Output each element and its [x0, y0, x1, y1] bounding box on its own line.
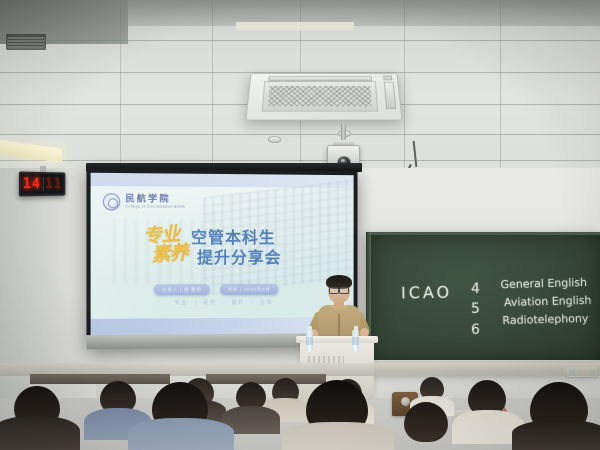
chalk-topic: Radiotelephony [502, 310, 592, 330]
chalk-level-numbers: 4 5 6 [471, 279, 480, 340]
slide-tagline-word: 素养 [203, 299, 216, 306]
logo-name-en: College of Civil Aviation NUAA [125, 206, 185, 210]
slide-badge-date: 时间 | 2023年6月 [220, 284, 279, 295]
eyeglasses-icon [329, 287, 349, 292]
desk-surface [206, 374, 326, 384]
slide-logo: 民航学院 College of Civil Aviation NUAA [103, 193, 185, 211]
chalk-topic: General English [500, 274, 591, 295]
slide-tagline: 专业 | 素养 | 提升 | 分享 [175, 299, 273, 306]
ac-filter-mesh [268, 86, 372, 106]
chalk-topic-list: General English Aviation English Radiote… [500, 274, 592, 331]
microphone-wire [413, 141, 418, 167]
audience-shoulders [282, 422, 394, 450]
chair-knob [401, 397, 410, 406]
slide-title-main-line: 提升分享会 [197, 248, 281, 268]
ceiling [0, 0, 600, 178]
ceiling-tile-line [500, 0, 501, 178]
ceiling-vent-grill [6, 34, 46, 50]
slide-badges: 分享人 | 胡 老师 时间 | 2023年6月 [154, 284, 279, 295]
clock-minutes: 11 [43, 174, 63, 194]
slide-title-main: 空管本科生 提升分享会 [191, 229, 281, 268]
chalk-label-icao: ICAO [401, 283, 452, 303]
audience [0, 354, 600, 450]
classroom-photo: 14 11 民航学院 College of Civil Aviation NUA… [0, 0, 600, 450]
slide-tagline-sep: | [223, 299, 224, 305]
slide-tagline-word: 提升 [232, 299, 245, 306]
audience-head [404, 402, 448, 442]
slide-title: 专业 素养 空管本科生 提升分享会 [144, 226, 282, 268]
audience-shoulders [512, 420, 600, 450]
slide-title-accent: 专业 素养 [142, 224, 188, 266]
water-bottle [352, 330, 359, 352]
chalk-topic: Aviation English [504, 292, 592, 312]
ac-intake-frame [262, 81, 379, 112]
slide-tagline-word: 分享 [260, 299, 273, 306]
ac-vent-slot [384, 82, 397, 109]
slide-tagline-sep: | [252, 299, 253, 305]
audience-shoulders [128, 418, 234, 450]
university-crest-icon [103, 193, 120, 210]
clock-hours: 14 [21, 174, 43, 195]
blackboard-surface: ICAO 4 5 6 General English Aviation Engl… [371, 235, 600, 360]
slide-title-main-line: 空管本科生 [191, 229, 281, 249]
logo-text: 民航学院 College of Civil Aviation NUAA [125, 195, 185, 210]
ceiling-tile-line [120, 0, 121, 178]
slide-badge-presenter: 分享人 | 胡 老师 [154, 284, 210, 295]
ac-corner-module [383, 75, 392, 80]
audience-shoulders [0, 416, 80, 450]
logo-name-cn: 民航学院 [125, 195, 185, 204]
slide-title-accent-line: 素养 [151, 244, 189, 266]
chalk-level: 5 [471, 299, 480, 319]
water-bottle [306, 330, 313, 352]
blackboard: ICAO 4 5 6 General English Aviation Engl… [366, 232, 600, 372]
smoke-detector-icon [268, 136, 281, 143]
slide-tagline-sep: | [195, 300, 196, 306]
led-wall-clock: 14 11 [19, 172, 65, 197]
desk-surface [30, 374, 170, 384]
chalk-level: 6 [471, 320, 480, 340]
ceiling-tile-line [404, 0, 405, 178]
chalk-level: 4 [471, 279, 480, 299]
slide-tagline-word: 专业 [175, 299, 188, 306]
air-conditioner-unit [245, 73, 403, 121]
ceiling-tile-line [212, 0, 213, 178]
ceiling-light-strip [236, 22, 354, 31]
